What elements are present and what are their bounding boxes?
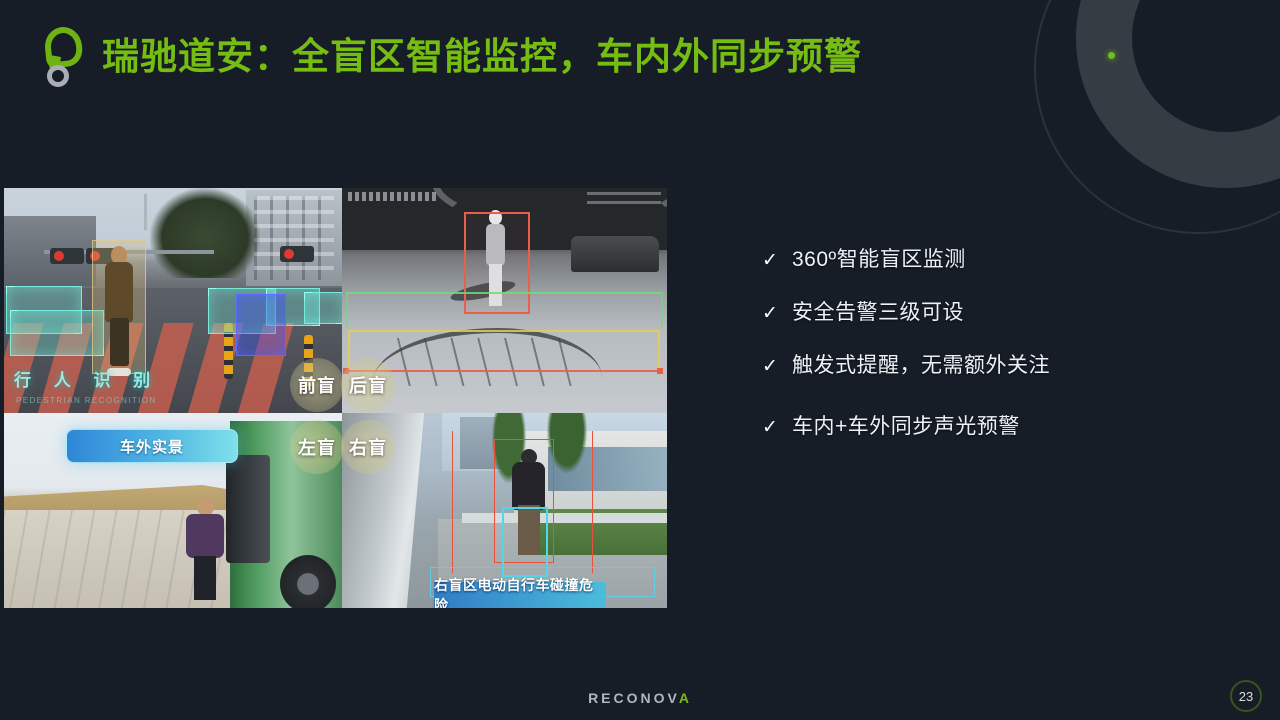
- zone-line-green-right: [661, 292, 663, 328]
- curb: [462, 513, 667, 523]
- green-dot-decoration: [1108, 52, 1115, 59]
- badge-left-blind-spot: 左盲: [290, 420, 344, 474]
- overlay-label-cn: 行 人 识 别: [14, 366, 159, 391]
- zone-line-red: [346, 370, 660, 372]
- list-item-label: 安全告警三级可设: [792, 301, 964, 324]
- building-right: [246, 190, 342, 286]
- outside-view-banner-label: 车外实景: [120, 436, 184, 457]
- zone-line-green: [346, 292, 661, 294]
- detection-box-vehicle-2: [10, 310, 104, 356]
- badge-front-blind-spot: 前盲: [290, 358, 344, 412]
- footer-brand-accent: A: [679, 690, 692, 706]
- osd-text-right: [587, 192, 661, 210]
- osd-text-left: [348, 192, 436, 201]
- page-number-badge: 23: [1230, 680, 1262, 712]
- feature-list: ✓ 360º智能盲区监测 ✓ 安全告警三级可设 ✓ 触发式提醒，无需额外关注 ✓…: [762, 248, 1242, 468]
- check-icon: ✓: [762, 418, 792, 437]
- list-item-label: 360º智能盲区监测: [792, 248, 966, 271]
- overlay-label-en: PEDESTRIAN RECOGNITION: [16, 396, 157, 405]
- list-item: ✓ 安全告警三级可设: [762, 301, 1242, 324]
- list-item: ✓ 车内+车外同步声光预警: [762, 415, 1242, 438]
- pedestrian-figure: [104, 246, 134, 374]
- badge-right-blind-spot: 右盲: [341, 420, 395, 474]
- detection-box-motorcycle: [236, 294, 286, 356]
- list-item-label: 触发式提醒，无需额外关注: [792, 354, 1050, 377]
- list-item: ✓ 触发式提醒，无需额外关注: [762, 354, 1242, 377]
- list-item-label: 车内+车外同步声光预警: [792, 415, 1020, 438]
- person-figure: [186, 498, 224, 602]
- zone-line-yellow: [348, 330, 660, 372]
- detection-line-red-right: [592, 431, 594, 573]
- badge-rear-blind-spot: 后盲: [341, 358, 395, 412]
- slide-header: 瑞驰道安：全盲区智能监控，车内外同步预警: [38, 24, 862, 88]
- reconova-logo-icon: [38, 25, 90, 87]
- check-icon: ✓: [762, 357, 792, 376]
- tree: [150, 188, 260, 278]
- light-pole: [144, 194, 147, 230]
- collision-warning-banner: 右盲区电动自行车碰撞危险: [434, 582, 606, 608]
- page-title: 瑞驰道安：全盲区智能监控，车内外同步预警: [102, 38, 862, 75]
- collision-warning-label: 右盲区电动自行车碰撞危险: [434, 575, 606, 608]
- outside-view-banner: 车外实景: [66, 429, 238, 463]
- detection-line-red-left: [452, 431, 454, 573]
- footer-brand-main: RECONOV: [588, 690, 679, 706]
- parked-vehicle: [571, 236, 659, 272]
- list-item: ✓ 360º智能盲区监测: [762, 248, 1242, 271]
- traffic-light-right: [280, 246, 314, 262]
- zone-line-green-left: [346, 292, 348, 328]
- check-icon: ✓: [762, 251, 792, 270]
- traffic-light-left: [50, 248, 84, 264]
- detection-box-pedestrian: [464, 212, 530, 314]
- corner-arc-outline-decoration: [1034, 0, 1280, 234]
- check-icon: ✓: [762, 304, 792, 323]
- footer-brand-logo: RECONOVA: [0, 690, 1280, 706]
- detection-box-vehicle-5: [304, 292, 342, 324]
- slide-root: 瑞驰道安：全盲区智能监控，车内外同步预警: [0, 0, 1280, 720]
